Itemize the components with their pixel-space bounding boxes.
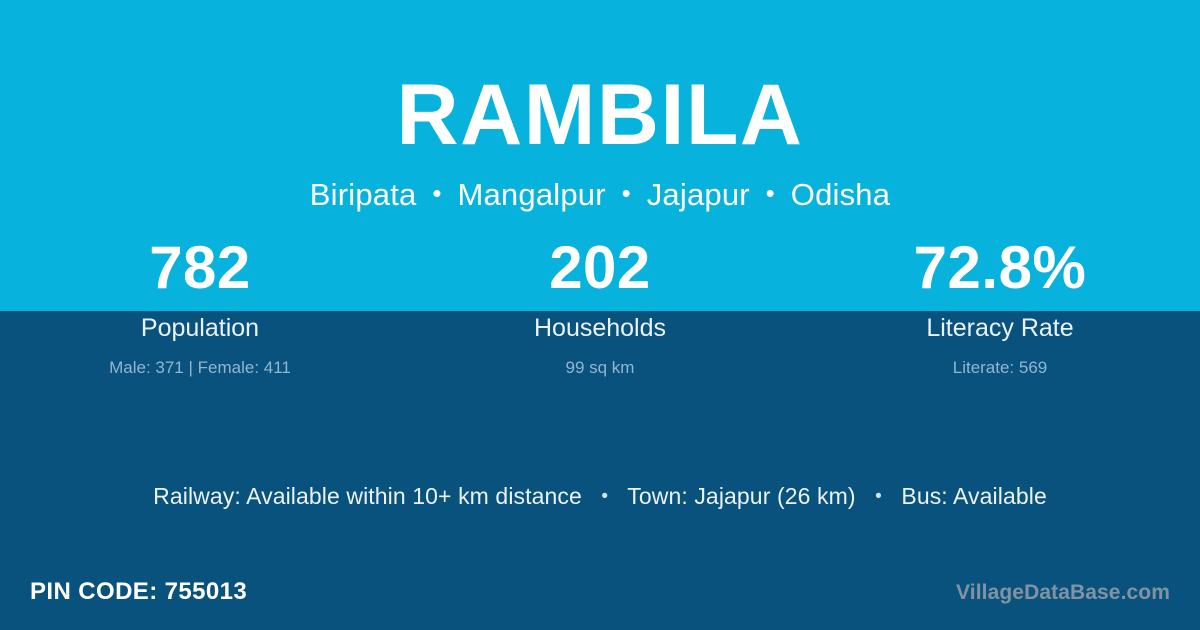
stat-literacy-rate: 72.8% Literacy Rate Literate: 569 — [800, 238, 1200, 376]
stat-value-population: 782 — [0, 238, 400, 310]
amenity-nearest-town: Town: Jajapur (26 km) — [627, 483, 855, 509]
stat-label-households: Households — [400, 316, 800, 341]
card-header: RAMBILA Biripata • Mangalpur • Jajapur •… — [0, 0, 1200, 210]
breadcrumb-item-block: Mangalpur — [457, 177, 605, 212]
bullet-separator-icon: • — [615, 178, 638, 208]
bullet-separator-icon: • — [759, 178, 782, 208]
breadcrumb-item-district: Jajapur — [647, 177, 750, 212]
card-footer: PIN CODE: 755013 VillageDataBase.com — [0, 572, 1200, 612]
stat-population: 782 Population Male: 371 | Female: 411 — [0, 238, 400, 376]
breadcrumb: Biripata • Mangalpur • Jajapur • Odisha — [0, 179, 1200, 210]
bullet-separator-icon: • — [862, 486, 895, 507]
village-info-card: RAMBILA Biripata • Mangalpur • Jajapur •… — [0, 0, 1200, 630]
pin-code: PIN CODE: 755013 — [30, 580, 247, 604]
stat-sublabel-households: 99 sq km — [400, 359, 800, 376]
breadcrumb-item-village: Biripata — [310, 177, 417, 212]
stat-value-households: 202 — [400, 238, 800, 310]
amenities-info-line: Railway: Available within 10+ km distanc… — [0, 485, 1200, 508]
breadcrumb-item-state: Odisha — [791, 177, 890, 212]
statistics-row: 782 Population Male: 371 | Female: 411 2… — [0, 238, 1200, 376]
bullet-separator-icon: • — [425, 178, 448, 208]
page-title: RAMBILA — [0, 72, 1200, 158]
amenity-railway: Railway: Available within 10+ km distanc… — [153, 483, 582, 509]
brand-watermark: VillageDataBase.com — [956, 582, 1170, 603]
stat-label-population: Population — [0, 316, 400, 341]
amenity-bus: Bus: Available — [901, 483, 1046, 509]
stat-value-literacy-rate: 72.8% — [800, 238, 1200, 310]
stat-sublabel-literacy-rate: Literate: 569 — [800, 359, 1200, 376]
bullet-separator-icon: • — [588, 486, 621, 507]
stat-sublabel-population: Male: 371 | Female: 411 — [0, 359, 400, 376]
stat-households: 202 Households 99 sq km — [400, 238, 800, 376]
stat-label-literacy-rate: Literacy Rate — [800, 316, 1200, 341]
